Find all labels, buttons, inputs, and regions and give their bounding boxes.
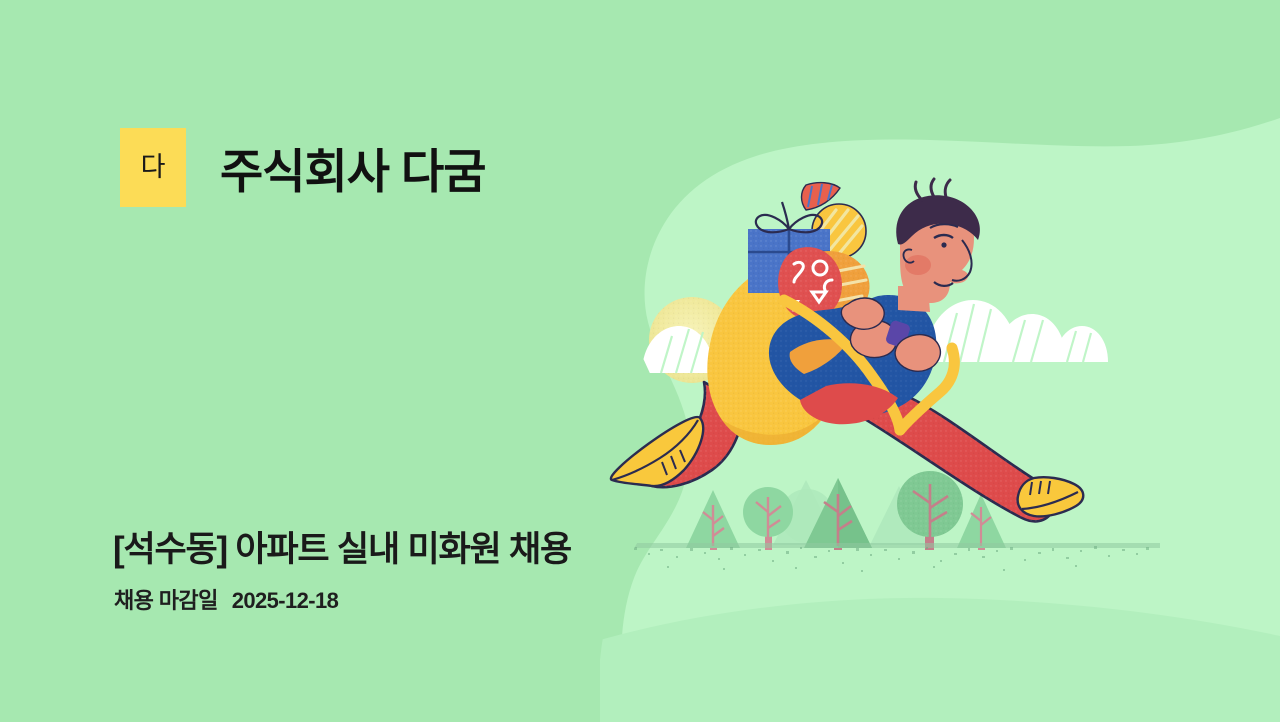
company-name: 주식회사 다굼 — [220, 133, 486, 202]
job-posting-card: 다 주식회사 다굼 [석수동] 아파트 실내 미화원 채용 채용 마감일2025… — [0, 0, 1280, 722]
job-posting-title: [석수동] 아파트 실내 미화원 채용 — [113, 521, 571, 572]
deadline-date: 2025-12-18 — [232, 588, 339, 613]
text-layer: 다 주식회사 다굼 [석수동] 아파트 실내 미화원 채용 채용 마감일2025… — [0, 0, 1280, 722]
deadline-row: 채용 마감일2025-12-18 — [114, 583, 338, 615]
company-badge-initial: 다 — [120, 128, 186, 207]
company-row: 다 주식회사 다굼 — [120, 128, 486, 207]
deadline-label: 채용 마감일 — [114, 588, 218, 613]
